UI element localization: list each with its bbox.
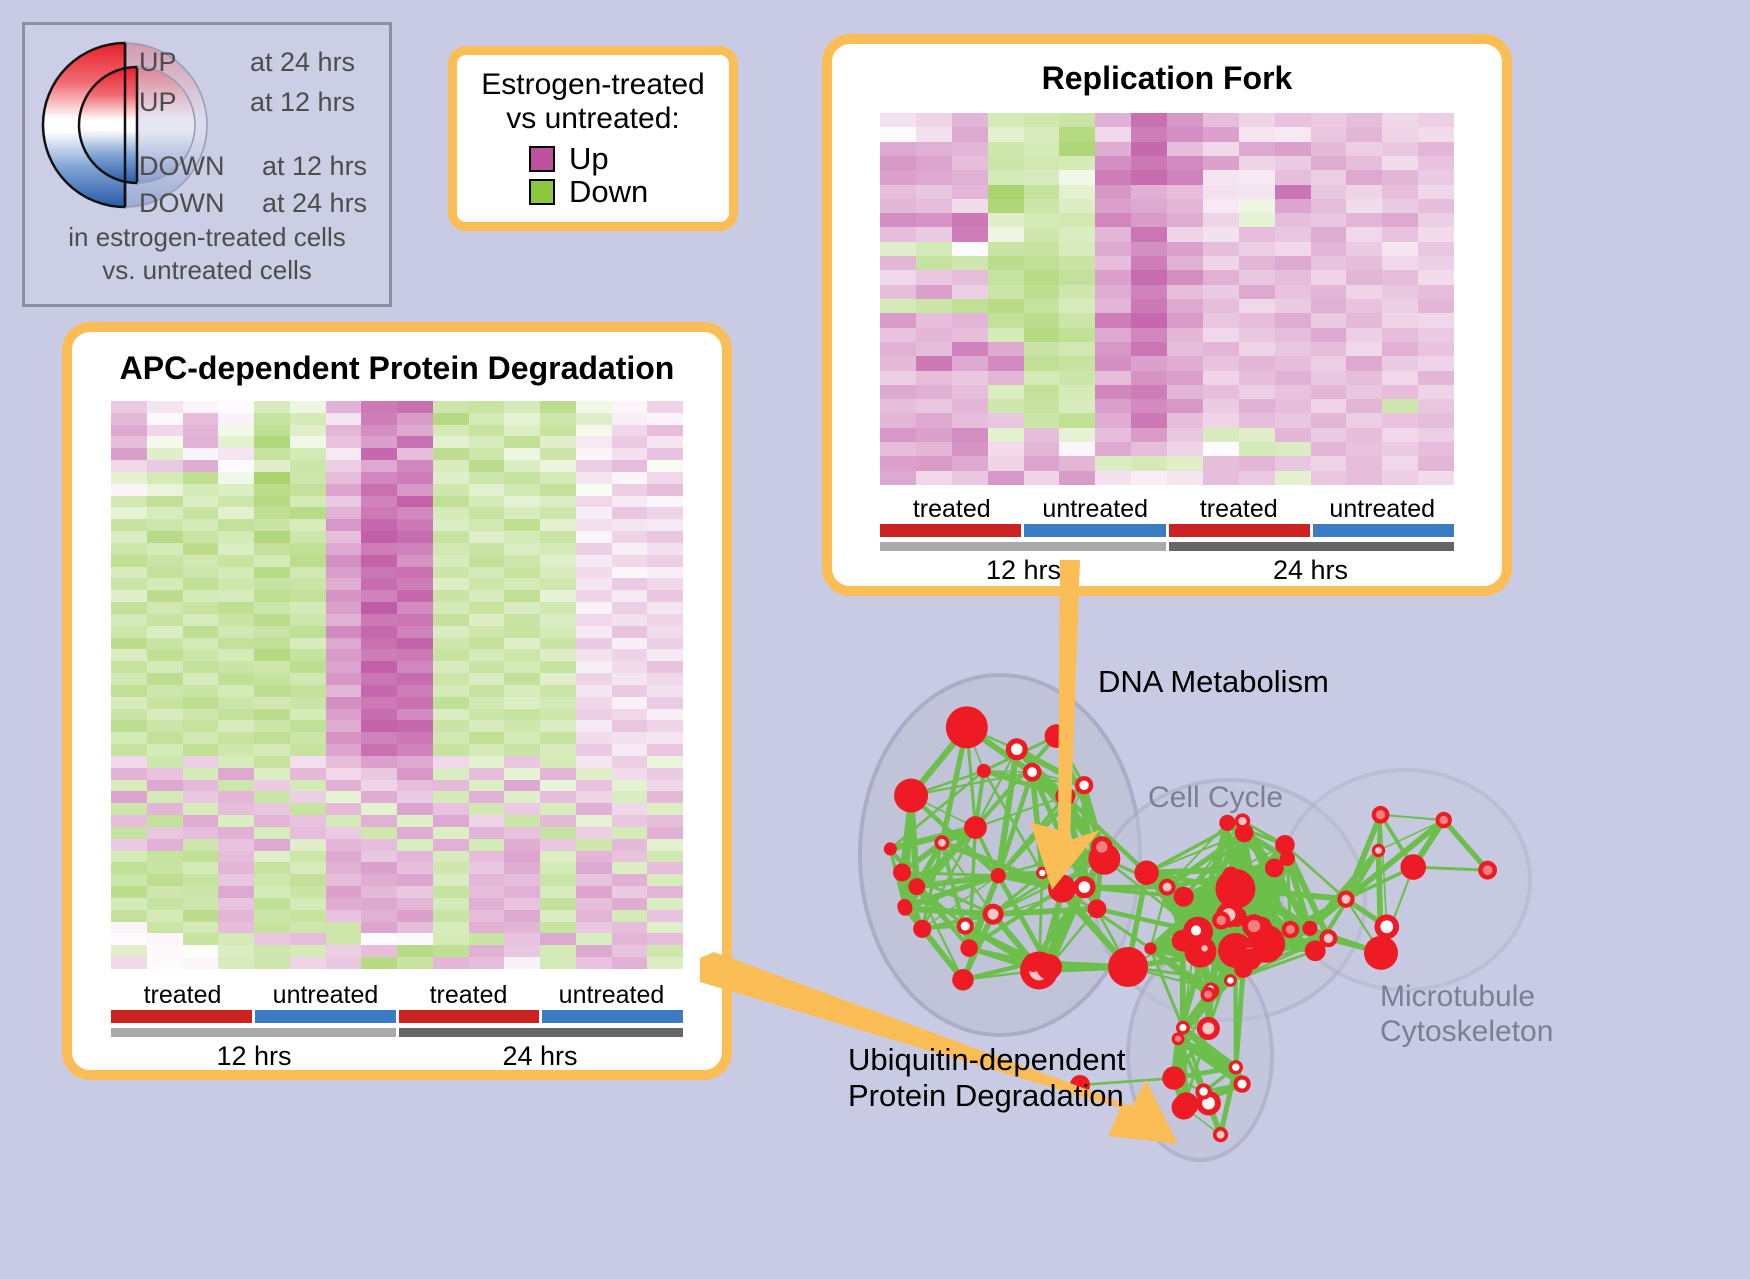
network-node[interactable] (1036, 867, 1048, 879)
heatmap-cell (147, 484, 183, 496)
network-node[interactable] (1006, 738, 1028, 760)
network-node[interactable] (964, 816, 987, 839)
heatmap-cell (1131, 385, 1167, 399)
heatmap-cell (361, 886, 397, 898)
node-inner-fill (1310, 945, 1321, 956)
heatmap-cell (576, 401, 612, 413)
heatmap-cell (1059, 442, 1095, 456)
heatmap-cell (290, 886, 326, 898)
heatmap-cell (1275, 242, 1311, 256)
network-node[interactable] (1212, 911, 1230, 929)
network-node[interactable] (957, 917, 974, 934)
heatmap-cell (540, 780, 576, 792)
heatmap-cell (469, 626, 505, 638)
heatmap-cell (326, 957, 362, 969)
heatmap-cell (504, 886, 540, 898)
heatmap-cell (647, 839, 683, 851)
network-node[interactable] (1075, 776, 1093, 794)
time-label: 12 hrs (111, 1041, 397, 1072)
heatmap-cell (880, 313, 916, 327)
heatmap-cell (397, 862, 433, 874)
heatmap-cell (254, 425, 290, 437)
heatmap-cell (1095, 399, 1131, 413)
heatmap-cell (540, 661, 576, 673)
heatmap-cell (147, 472, 183, 484)
heatmap-cell (504, 649, 540, 661)
heatmap-cell (1203, 456, 1239, 470)
heatmap-cell (576, 720, 612, 732)
heatmap-cell (1167, 471, 1203, 485)
heatmap-cell (988, 199, 1024, 213)
network-node[interactable] (1088, 899, 1107, 918)
heatmap-cell (988, 385, 1024, 399)
heatmap-cell (183, 720, 219, 732)
heatmap-cell (397, 578, 433, 590)
heatmap-cell (361, 780, 397, 792)
heatmap-cell (1275, 156, 1311, 170)
heatmap-cell (397, 827, 433, 839)
node-outer-ring (1222, 867, 1239, 884)
heatmap-cell (1059, 127, 1095, 141)
axis-apc-degradation: treateduntreatedtreateduntreated 12 hrs2… (111, 981, 683, 1072)
heatmap-cell (916, 342, 952, 356)
heatmap-cell (1311, 199, 1347, 213)
network-node[interactable] (1199, 942, 1211, 954)
heatmap-cell (147, 460, 183, 472)
heatmap-cell (1131, 113, 1167, 127)
legend-title: Estrogen-treated vs untreated: (457, 55, 729, 135)
heatmap-cell (612, 626, 648, 638)
heatmap-cell (254, 839, 290, 851)
heatmap-cell (397, 673, 433, 685)
heatmap-cell (504, 425, 540, 437)
heatmap-cell (1418, 142, 1454, 156)
heatmap-cell (397, 756, 433, 768)
heatmap-cell (469, 768, 505, 780)
heatmap-cell (1167, 170, 1203, 184)
network-node[interactable] (1305, 940, 1326, 961)
heatmap-cell (576, 744, 612, 756)
network-node[interactable] (1186, 921, 1205, 940)
group-label: untreated (1311, 495, 1455, 524)
heatmap-cell (147, 567, 183, 579)
heatmap-cell (254, 874, 290, 886)
heatmap-cell (612, 815, 648, 827)
heatmap-cell (397, 732, 433, 744)
heatmap-cell (254, 720, 290, 732)
heatmap-cell (147, 957, 183, 969)
heatmap-cell (952, 442, 988, 456)
heatmap-cell (612, 720, 648, 732)
network-node[interactable] (1024, 953, 1043, 972)
heatmap-cell (576, 673, 612, 685)
heatmap-cell (361, 697, 397, 709)
network-node[interactable] (1282, 921, 1300, 939)
heatmap-cell (647, 661, 683, 673)
network-node[interactable] (1048, 875, 1076, 903)
heatmap-cell (147, 401, 183, 413)
heatmap-cell (433, 910, 469, 922)
network-node[interactable] (1172, 1032, 1185, 1045)
heatmap-cell (147, 626, 183, 638)
heatmap-cell (1382, 342, 1418, 356)
heatmap-cell (290, 649, 326, 661)
heatmap-cell (1059, 342, 1095, 356)
heatmap-cell (254, 519, 290, 531)
network-node[interactable] (946, 706, 988, 748)
heatmap-cell (1418, 471, 1454, 485)
heatmap-cell (469, 578, 505, 590)
network-node[interactable] (1045, 724, 1069, 748)
network-node[interactable] (1233, 1075, 1250, 1092)
heatmap-cell (469, 673, 505, 685)
heatmap-cell (469, 496, 505, 508)
network-node[interactable] (1222, 867, 1239, 884)
heatmap-cell (111, 851, 147, 863)
network-node[interactable] (908, 878, 925, 895)
heatmap-cell (1131, 299, 1167, 313)
node-outer-ring (1024, 953, 1043, 972)
heatmap-cell (1311, 471, 1347, 485)
heatmap-cell (361, 460, 397, 472)
network-node[interactable] (1174, 1092, 1198, 1116)
heatmap-cell (469, 957, 505, 969)
heatmap-cell (612, 780, 648, 792)
heatmap-cell (469, 614, 505, 626)
heatmap-cell (147, 732, 183, 744)
network-node[interactable] (1337, 891, 1354, 908)
heatmap-cell (1131, 471, 1167, 485)
heatmap-cell (1095, 285, 1131, 299)
network-node[interactable] (1372, 806, 1390, 824)
heatmap-cell (988, 342, 1024, 356)
network-node[interactable] (1134, 861, 1159, 886)
heatmap-cell (576, 448, 612, 460)
heatmap-cell (397, 720, 433, 732)
heatmap-cell (540, 425, 576, 437)
time-bar-apc (111, 1028, 683, 1037)
heatmap-cell (1382, 270, 1418, 284)
heatmap-cell (1382, 256, 1418, 270)
heatmap-cell (1382, 242, 1418, 256)
heatmap-cell (1311, 356, 1347, 370)
heatmap-cell (326, 910, 362, 922)
network-node[interactable] (1201, 987, 1216, 1002)
heatmap-cell (111, 425, 147, 437)
heatmap-cell (647, 626, 683, 638)
heatmap-cell (1131, 285, 1167, 299)
heatmap-cell (433, 791, 469, 803)
heatmap-cell (880, 285, 916, 299)
heatmap-cell (218, 697, 254, 709)
heatmap-cell (1131, 227, 1167, 241)
heatmap-cell (1059, 428, 1095, 442)
network-node[interactable] (1197, 1017, 1220, 1040)
heatmap-cell (1418, 170, 1454, 184)
heatmap-cell (952, 213, 988, 227)
heatmap-cell (147, 780, 183, 792)
node-outer-ring (977, 764, 991, 778)
heatmap-cell (218, 922, 254, 934)
node-inner-fill (1217, 1131, 1225, 1139)
heatmap-cell (1311, 113, 1347, 127)
heatmap-cell (612, 602, 648, 614)
heatmap-cell (1239, 227, 1275, 241)
network-node[interactable] (991, 868, 1006, 883)
heatmap-cell (183, 780, 219, 792)
heatmap-cell (1275, 428, 1311, 442)
network-node[interactable] (898, 901, 913, 916)
heatmap-cell (361, 791, 397, 803)
network-node[interactable] (952, 969, 973, 990)
network-node[interactable] (894, 779, 928, 813)
heatmap-cell (361, 827, 397, 839)
heatmap-cell (1167, 213, 1203, 227)
heatmap-cell (504, 626, 540, 638)
heatmap-cell (147, 507, 183, 519)
network-node[interactable] (1400, 854, 1426, 880)
heatmap-cell (1203, 313, 1239, 327)
heatmap-cell (183, 898, 219, 910)
heatmap-cell (218, 744, 254, 756)
network-node[interactable] (893, 863, 911, 881)
heatmap-cell (647, 413, 683, 425)
heatmap-cell (1167, 199, 1203, 213)
heatmap-cell (1095, 342, 1131, 356)
network-node[interactable] (884, 842, 897, 855)
heatmap-cell (361, 578, 397, 590)
heatmap-cell (397, 851, 433, 863)
heatmap-cell (218, 709, 254, 721)
heatmap-cell (540, 507, 576, 519)
heatmap-cell (1059, 256, 1095, 270)
heatmap-cell (1024, 242, 1060, 256)
network-node[interactable] (1023, 763, 1042, 782)
node-inner-fill (1180, 1098, 1193, 1111)
node-outer-ring (1045, 724, 1069, 748)
network-node[interactable] (1372, 844, 1385, 857)
heatmap-cell (1275, 342, 1311, 356)
heatmap-cell (254, 614, 290, 626)
network-node[interactable] (1213, 1127, 1228, 1142)
heatmap-cell (1059, 456, 1095, 470)
heatmap-cell (1167, 385, 1203, 399)
heatmap-cell (1203, 413, 1239, 427)
heatmap-cell (1418, 127, 1454, 141)
heatmap-cell (111, 780, 147, 792)
heatmap-cell (218, 898, 254, 910)
heatmap-cell (147, 922, 183, 934)
heatmap-cell (1095, 442, 1131, 456)
node-inner-fill (1232, 1064, 1239, 1071)
heatmap-cell (916, 313, 952, 327)
network-node[interactable] (960, 939, 978, 957)
heatmap-cell (254, 851, 290, 863)
key-down-24-time: at 24 hrs (262, 188, 367, 219)
network-node[interactable] (983, 904, 1004, 925)
heatmap-cell (504, 496, 540, 508)
heatmap-cell (183, 709, 219, 721)
heatmap-cell (361, 685, 397, 697)
heatmap-cell (504, 732, 540, 744)
heatmap-cell (647, 780, 683, 792)
heatmap-cell (1275, 313, 1311, 327)
network-node[interactable] (1224, 974, 1237, 987)
network-node[interactable] (1219, 815, 1235, 831)
heatmap-cell (183, 697, 219, 709)
node-inner-fill (1248, 920, 1260, 932)
heatmap-cell (647, 709, 683, 721)
heatmap-cell (647, 484, 683, 496)
legend-label-up: Up (569, 143, 609, 174)
heatmap-cell (290, 484, 326, 496)
heatmap-cell (880, 413, 916, 427)
heatmap-cell (1382, 285, 1418, 299)
heatmap-cell (1418, 356, 1454, 370)
time-color-bar (1169, 542, 1455, 551)
heatmap-cell (111, 531, 147, 543)
network-node[interactable] (1055, 786, 1075, 806)
network-node[interactable] (1478, 861, 1497, 880)
heatmap-cell (1382, 299, 1418, 313)
heatmap-cell (326, 839, 362, 851)
heatmap-cell (612, 933, 648, 945)
heatmap-cell (576, 413, 612, 425)
heatmap-cell (183, 862, 219, 874)
time-label: 24 hrs (1167, 555, 1454, 586)
network-node[interactable] (913, 920, 931, 938)
heatmap-cell (952, 199, 988, 213)
network-node[interactable] (1162, 1066, 1185, 1089)
heatmap-cell (1239, 127, 1275, 141)
heatmap-cell (111, 673, 147, 685)
network-node[interactable] (1091, 836, 1113, 858)
heatmap-cell (952, 256, 988, 270)
heatmap-cell (1167, 442, 1203, 456)
heatmap-cell (326, 519, 362, 531)
heatmap-cell (576, 649, 612, 661)
network-node[interactable] (1195, 1083, 1211, 1099)
heatmap-cell (576, 827, 612, 839)
heatmap-cell (1203, 127, 1239, 141)
node-inner-fill (1380, 920, 1393, 933)
heatmap-cell (254, 732, 290, 744)
heatmap-cell (1239, 142, 1275, 156)
heatmap-cell (147, 945, 183, 957)
key-up-12-label: UP (139, 87, 177, 118)
heatmap-cell (111, 649, 147, 661)
heatmap-cell (218, 862, 254, 874)
heatmap-cell (290, 839, 326, 851)
heatmap-cell (916, 142, 952, 156)
heatmap-cell (952, 356, 988, 370)
heatmap-cell (880, 270, 916, 284)
heatmap-cell (397, 709, 433, 721)
network-node[interactable] (1159, 879, 1176, 896)
heatmap-cell (433, 685, 469, 697)
heatmap-cell (469, 555, 505, 567)
heatmap-cell (254, 496, 290, 508)
heatmap-cell (612, 756, 648, 768)
heatmap-cell (647, 567, 683, 579)
group-labels-replication-fork: treateduntreatedtreateduntreated (880, 495, 1454, 524)
heatmap-cell (397, 780, 433, 792)
heatmap-cell (147, 649, 183, 661)
heatmap-cell (469, 874, 505, 886)
heatmap-cell (1311, 385, 1347, 399)
network-node[interactable] (1073, 876, 1095, 898)
heatmap-cell (290, 803, 326, 815)
heatmap-cell (540, 957, 576, 969)
network-node[interactable] (1242, 914, 1266, 938)
heatmap-cell (1131, 156, 1167, 170)
heatmap-cell (1059, 328, 1095, 342)
heatmap-cell (540, 720, 576, 732)
heatmap-cell (218, 496, 254, 508)
heatmap-cell (326, 661, 362, 673)
network-node[interactable] (1174, 887, 1194, 907)
heatmap-cell (111, 638, 147, 650)
heatmap-cell (326, 567, 362, 579)
heatmap-cell (1275, 413, 1311, 427)
heatmap-cell (218, 472, 254, 484)
node-outer-ring (1240, 948, 1262, 970)
network-node[interactable] (1364, 936, 1398, 970)
heatmap-cell (397, 472, 433, 484)
heatmap-cell (1059, 142, 1095, 156)
network-node[interactable] (1436, 812, 1452, 828)
heatmap-cell (540, 567, 576, 579)
network-node[interactable] (1374, 914, 1399, 939)
network-node[interactable] (977, 764, 991, 778)
heatmap-cell (254, 413, 290, 425)
heatmap-cell (1203, 399, 1239, 413)
network-node[interactable] (1108, 947, 1148, 987)
heatmap-cell (218, 732, 254, 744)
heatmap-cell (880, 142, 916, 156)
heatmap-cell (540, 945, 576, 957)
heatmap-cell (504, 910, 540, 922)
heatmap-cell (1024, 199, 1060, 213)
heatmap-cell (469, 803, 505, 815)
heatmap-cell (397, 685, 433, 697)
heatmap-cell (647, 519, 683, 531)
heatmap-cell (1095, 213, 1131, 227)
heatmap-cell (576, 933, 612, 945)
heatmap-cell (183, 827, 219, 839)
network-node[interactable] (1275, 835, 1295, 855)
heatmap-cell (218, 436, 254, 448)
network-node[interactable] (1235, 813, 1251, 829)
heatmap-cell (1203, 299, 1239, 313)
heatmap-cell (1239, 185, 1275, 199)
heatmap-cell (397, 922, 433, 934)
heatmap-cell (540, 401, 576, 413)
heatmap-cell (540, 543, 576, 555)
network-node[interactable] (1240, 948, 1262, 970)
node-inner-fill (1199, 1087, 1207, 1095)
network-node[interactable] (1229, 1060, 1243, 1074)
heatmap-cell (612, 460, 648, 472)
heatmap-cell (1346, 285, 1382, 299)
heatmap-cell (218, 803, 254, 815)
color-key-box: UP at 24 hrs UP at 12 hrs DOWN at 12 hrs… (22, 22, 392, 307)
heatmap-cell (147, 685, 183, 697)
network-node[interactable] (1302, 921, 1317, 936)
network-node[interactable] (1144, 942, 1156, 954)
heatmap-cell (576, 496, 612, 508)
network-node[interactable] (934, 835, 949, 850)
